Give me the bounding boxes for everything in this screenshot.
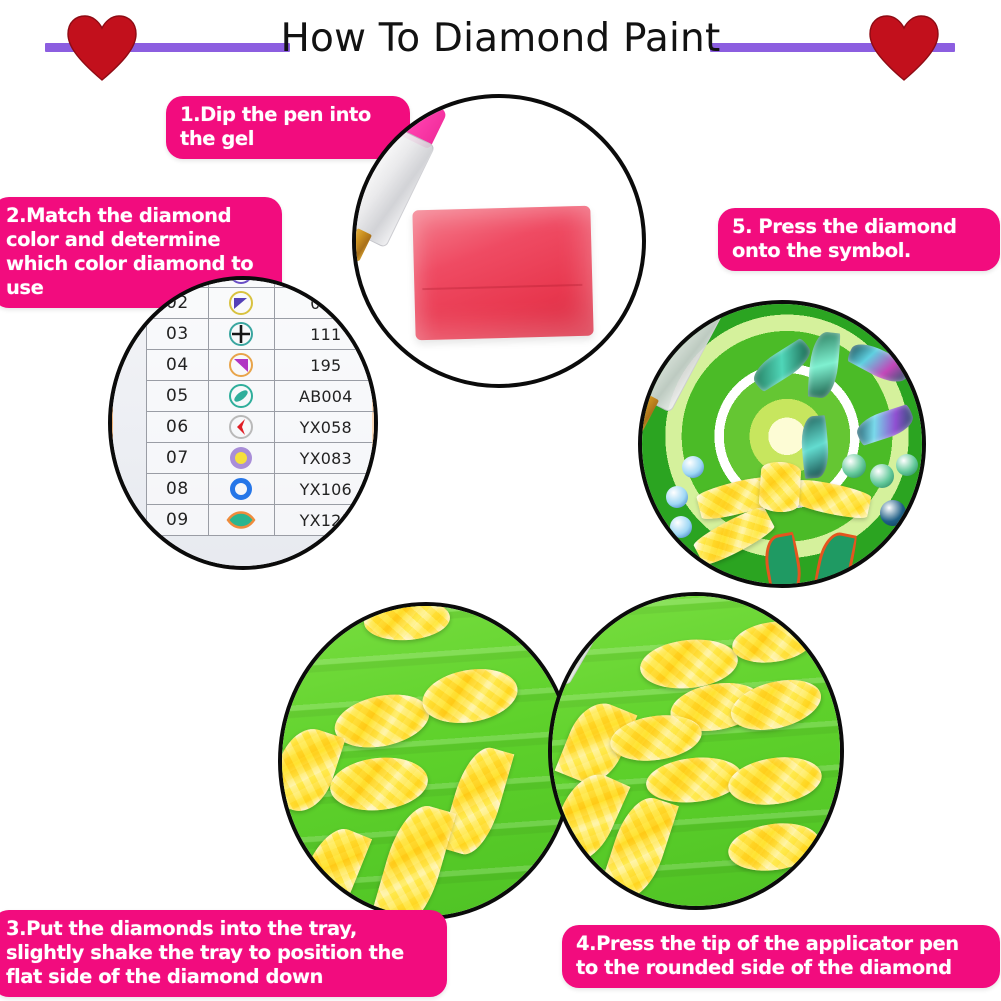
cell-symbol — [208, 474, 274, 505]
teal-ellipse-circle-icon — [209, 382, 274, 410]
photo-pen-picks-diamond — [548, 592, 844, 910]
table-row: 09 YX125 — [147, 505, 378, 536]
table-row: 06 YX058 — [147, 412, 378, 443]
cell-code: YX083 — [274, 443, 377, 474]
gem-round — [896, 454, 918, 476]
gem-round — [870, 464, 894, 488]
blue-ring-icon — [209, 475, 274, 503]
double-dot-circle-icon — [209, 276, 274, 286]
cell-code: AB004 — [274, 381, 377, 412]
pen-barrel-icon — [352, 124, 436, 248]
pen-tip-icon — [638, 392, 659, 445]
photo-dip-pen-in-gel — [352, 94, 646, 388]
page-title: How To Diamond Paint — [0, 16, 1001, 62]
cell-no: 09 — [147, 505, 209, 536]
cell-code: 093 — [274, 288, 377, 319]
table-row: 03 111 — [147, 319, 378, 350]
cell-no: 03 — [147, 319, 209, 350]
cell-symbol — [208, 412, 274, 443]
filled-triangle-circle-icon — [209, 289, 274, 317]
cell-symbol — [208, 505, 274, 536]
cell-code: 195 — [274, 350, 377, 381]
pen-barrel-icon — [548, 592, 619, 686]
cell-symbol — [208, 381, 274, 412]
cell-symbol — [208, 443, 274, 474]
cell-no: 05 — [147, 381, 209, 412]
cell-code: YX125 — [274, 505, 377, 536]
magenta-triangle-circle-icon — [209, 351, 274, 379]
gem-yellow — [363, 602, 452, 643]
step-4-caption: 4.Press the tip of the applicator pen to… — [562, 925, 1000, 988]
table-row: 05 AB004 — [147, 381, 378, 412]
gem-round — [670, 516, 692, 538]
red-chevron-circle-icon — [209, 413, 274, 441]
table-row: 04 195 — [147, 350, 378, 381]
cell-symbol — [208, 319, 274, 350]
cell-code: YX106 — [274, 474, 377, 505]
diamond-color-legend-table: 020 02 093 03 — [146, 276, 378, 536]
cell-code: YX058 — [274, 412, 377, 443]
gem-round — [842, 454, 866, 478]
pen-tip-icon — [352, 228, 372, 262]
step-5-caption: 5. Press the diamond onto the symbol. — [718, 208, 1000, 271]
cell-symbol — [208, 350, 274, 381]
cell-symbol — [208, 288, 274, 319]
step-3-caption: 3.Put the diamonds into the tray, slight… — [0, 910, 447, 997]
cell-no: 06 — [147, 412, 209, 443]
cell-no: 02 — [147, 288, 209, 319]
photo-diamonds-in-tray — [278, 602, 574, 920]
teal-leaf-orange-outline-icon — [209, 506, 274, 534]
cell-no: 08 — [147, 474, 209, 505]
gem-yellow-held — [758, 461, 801, 514]
table-row: 02 093 — [147, 288, 378, 319]
cell-no: 07 — [147, 443, 209, 474]
plus-circle-icon — [209, 320, 274, 348]
photo-color-chart: 020 02 093 03 — [108, 276, 378, 570]
yellow-dot-purple-ring-icon — [209, 444, 274, 472]
cell-no: 04 — [147, 350, 209, 381]
cell-code: 111 — [274, 319, 377, 350]
gem-round — [880, 500, 906, 526]
photo-press-onto-symbol — [638, 300, 926, 588]
table-row: 07 YX083 — [147, 443, 378, 474]
page-header: How To Diamond Paint — [0, 0, 1001, 80]
table-row: 08 YX106 — [147, 474, 378, 505]
cell-symbol — [208, 276, 274, 288]
